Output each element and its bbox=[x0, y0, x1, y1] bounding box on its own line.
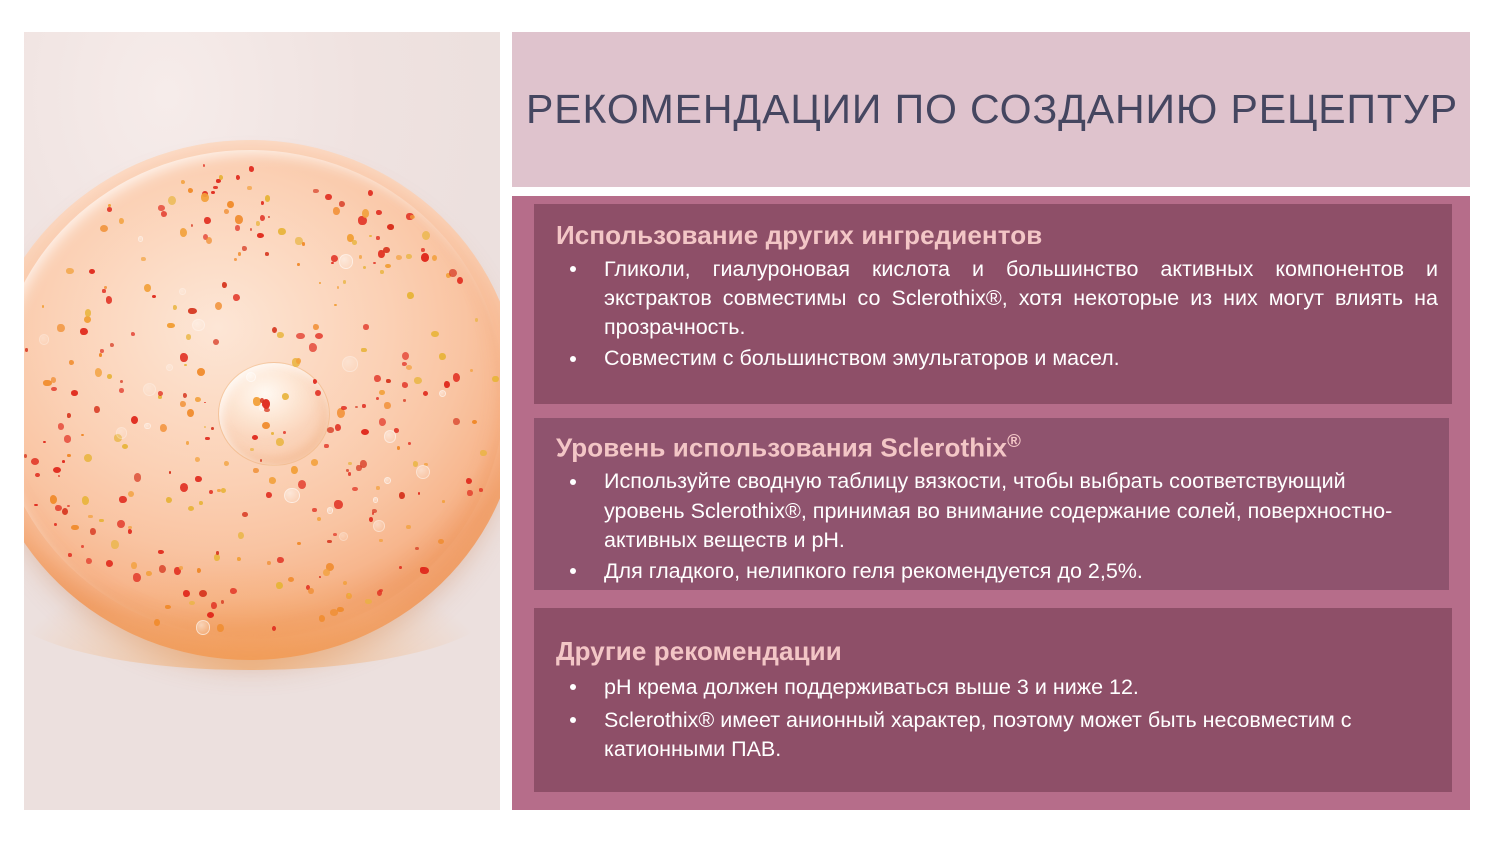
list-item-text: Sclerothix® имеет анионный характер, поэ… bbox=[604, 708, 1351, 761]
slide-image bbox=[24, 32, 500, 810]
bullet-list: Используйте сводную таблицу вязкости, чт… bbox=[534, 467, 1449, 586]
block-heading: Использование других ингредиентов bbox=[534, 204, 1452, 253]
recommendation-block-other: Другие рекомендации pH крема должен подд… bbox=[534, 608, 1452, 792]
bullet-dot bbox=[570, 684, 576, 690]
list-item-text: Совместим с большинством эмульгаторов и … bbox=[604, 346, 1120, 370]
slide-title-bar: РЕКОМЕНДАЦИИ ПО СОЗДАНИЮ РЕЦЕПТУР bbox=[512, 32, 1470, 187]
block-heading-text: Уровень использования Sclerothix bbox=[556, 433, 1007, 463]
list-item: pH крема должен поддерживаться выше 3 и … bbox=[556, 673, 1430, 702]
block-heading: Уровень использования Sclerothix® bbox=[534, 418, 1449, 465]
recommendation-block-ingredients: Использование других ингредиентов Гликол… bbox=[534, 204, 1452, 404]
list-item: Для гладкого, нелипкого геля рекомендует… bbox=[556, 557, 1427, 586]
bullet-dot bbox=[570, 356, 576, 362]
page-title: РЕКОМЕНДАЦИИ ПО СОЗДАНИЮ РЕЦЕПТУР bbox=[512, 86, 1470, 133]
list-item-text: Используйте сводную таблицу вязкости, чт… bbox=[604, 469, 1392, 551]
bullet-dot bbox=[570, 266, 576, 272]
list-item-text: Для гладкого, нелипкого геля рекомендует… bbox=[604, 559, 1143, 583]
list-item: Гликоли, гиалуроновая кислота и большинс… bbox=[556, 255, 1438, 343]
list-item: Используйте сводную таблицу вязкости, чт… bbox=[556, 467, 1427, 555]
list-item: Совместим с большинством эмульгаторов и … bbox=[556, 344, 1438, 373]
bullet-dot bbox=[570, 717, 576, 723]
recommendation-block-usage-level: Уровень использования Sclerothix® Исполь… bbox=[534, 418, 1449, 590]
list-item-text: Гликоли, гиалуроновая кислота и большинс… bbox=[604, 257, 1438, 339]
bullet-list: pH крема должен поддерживаться выше 3 и … bbox=[534, 673, 1452, 765]
registered-trademark-icon: ® bbox=[1007, 430, 1021, 451]
content-frame: Использование других ингредиентов Гликол… bbox=[512, 196, 1470, 810]
list-item-text: pH крема должен поддерживаться выше 3 и … bbox=[604, 675, 1139, 699]
bullet-list: Гликоли, гиалуроновая кислота и большинс… bbox=[534, 255, 1452, 374]
gel-center-bubble bbox=[218, 362, 330, 466]
bullet-dot bbox=[570, 568, 576, 574]
block-heading: Другие рекомендации bbox=[534, 608, 1452, 669]
bullet-dot bbox=[570, 479, 576, 485]
list-item: Sclerothix® имеет анионный характер, поэ… bbox=[556, 706, 1430, 764]
